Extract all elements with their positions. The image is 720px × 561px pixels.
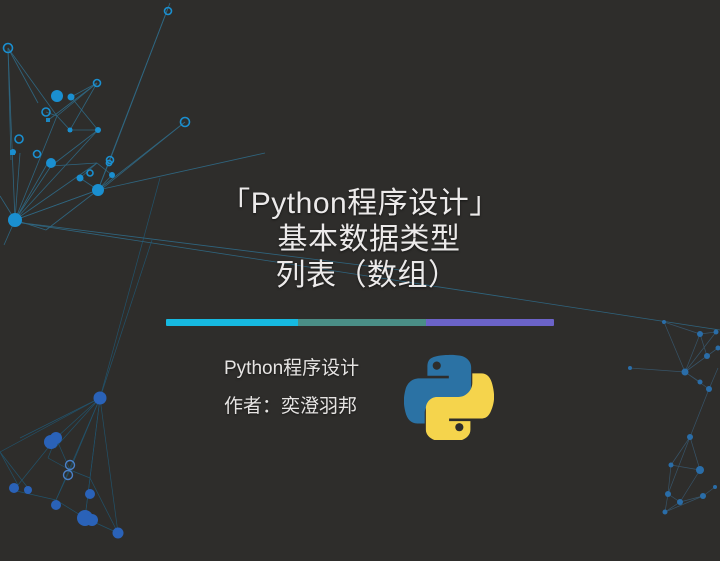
slide-meta: Python程序设计 作者：奕澄羽邦: [224, 350, 424, 426]
title-line-2: 基本数据类型: [0, 222, 720, 258]
python-logo: [404, 350, 494, 440]
title-line-3: 列表（数组）: [0, 258, 720, 294]
title-line-1: 「Python程序设计」: [0, 186, 720, 222]
divider-segment-purple: [426, 319, 554, 326]
accent-divider-bar: [166, 319, 554, 326]
divider-segment-teal: [298, 319, 426, 326]
author-name: 作者：奕澄羽邦: [224, 388, 424, 426]
divider-segment-cyan: [166, 319, 298, 326]
presentation-slide: 「Python程序设计」 基本数据类型 列表（数组） Python程序设计 作者…: [0, 0, 720, 561]
slide-title: 「Python程序设计」 基本数据类型 列表（数组）: [0, 186, 720, 294]
course-name: Python程序设计: [224, 350, 424, 388]
